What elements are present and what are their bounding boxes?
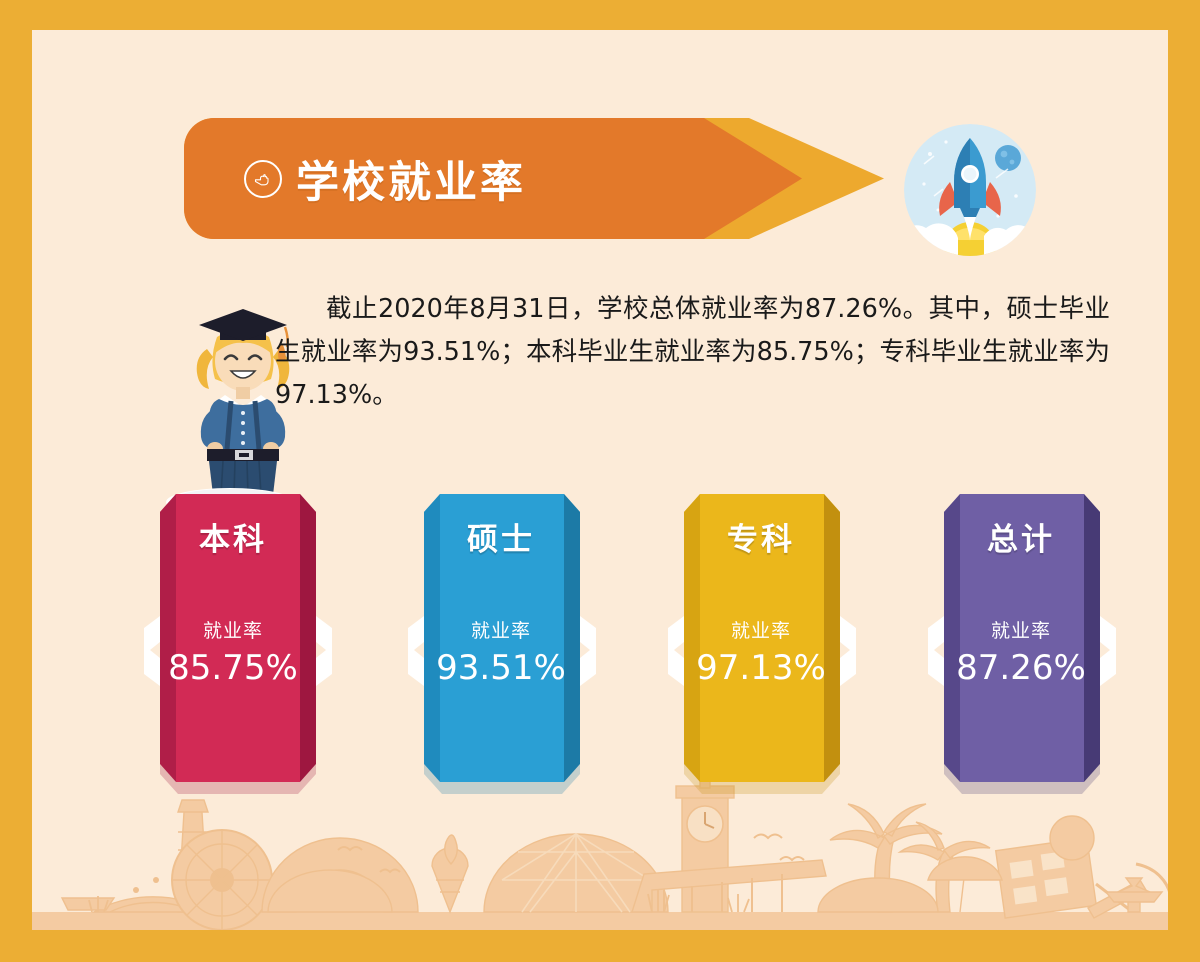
poster-root: 学校就业率	[0, 0, 1200, 962]
pillar-caption: 就业率	[924, 616, 1118, 643]
pillar-value: 85.75%	[136, 648, 330, 688]
rocket-icon	[904, 124, 1036, 256]
poster-canvas: 学校就业率	[32, 30, 1168, 930]
pillar-caption: 就业率	[664, 616, 858, 643]
pillar-caption: 就业率	[404, 616, 598, 643]
pillar-value: 97.13%	[664, 648, 858, 688]
intro-paragraph: 截止2020年8月31日，学校总体就业率为87.26%。其中，硕士毕业生就业率为…	[275, 288, 1110, 417]
pillar-label: 总计	[924, 514, 1118, 559]
employment-rate-chart: 本科 就业率 85.75% 硕士 就业率 93.51%	[32, 468, 1168, 828]
banner-title-group: 学校就业率	[244, 118, 526, 239]
header-banner: 学校就业率	[184, 118, 884, 239]
pillar-label: 本科	[136, 514, 330, 559]
pillar-master[interactable]: 硕士 就业率 93.51%	[404, 468, 598, 813]
page-title: 学校就业率	[296, 148, 526, 210]
pillar-label: 硕士	[404, 514, 598, 559]
pillar-value: 93.51%	[404, 648, 598, 688]
pillar-associate[interactable]: 专科 就业率 97.13%	[664, 468, 858, 813]
pillar-value: 87.26%	[924, 648, 1118, 688]
pillar-caption: 就业率	[136, 616, 330, 643]
pillar-total[interactable]: 总计 就业率 87.26%	[924, 468, 1118, 813]
pointing-hand-icon	[244, 160, 282, 198]
pillar-undergraduate[interactable]: 本科 就业率 85.75%	[144, 468, 338, 813]
pillar-label: 专科	[664, 514, 858, 559]
